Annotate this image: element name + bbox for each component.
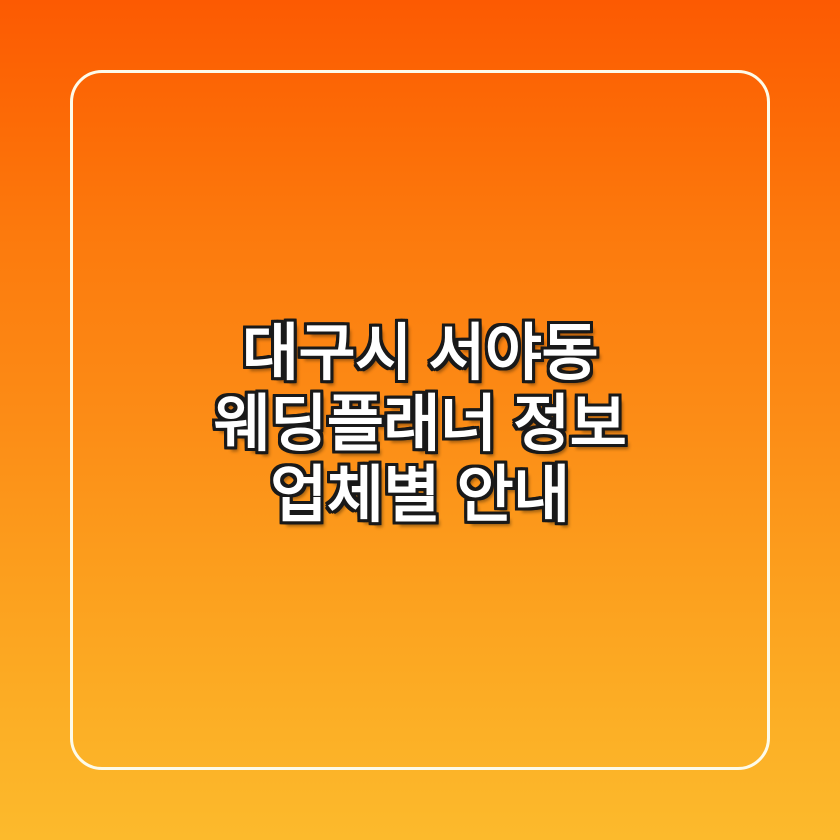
headline-line-2: 웨딩플래너 정보 [0,389,840,460]
headline-line-1: 대구시 서야동 [0,318,840,389]
banner-canvas: 대구시 서야동 웨딩플래너 정보 업체별 안내 [0,0,840,840]
banner-headline: 대구시 서야동 웨딩플래너 정보 업체별 안내 [0,318,840,531]
headline-line-3: 업체별 안내 [0,460,840,531]
